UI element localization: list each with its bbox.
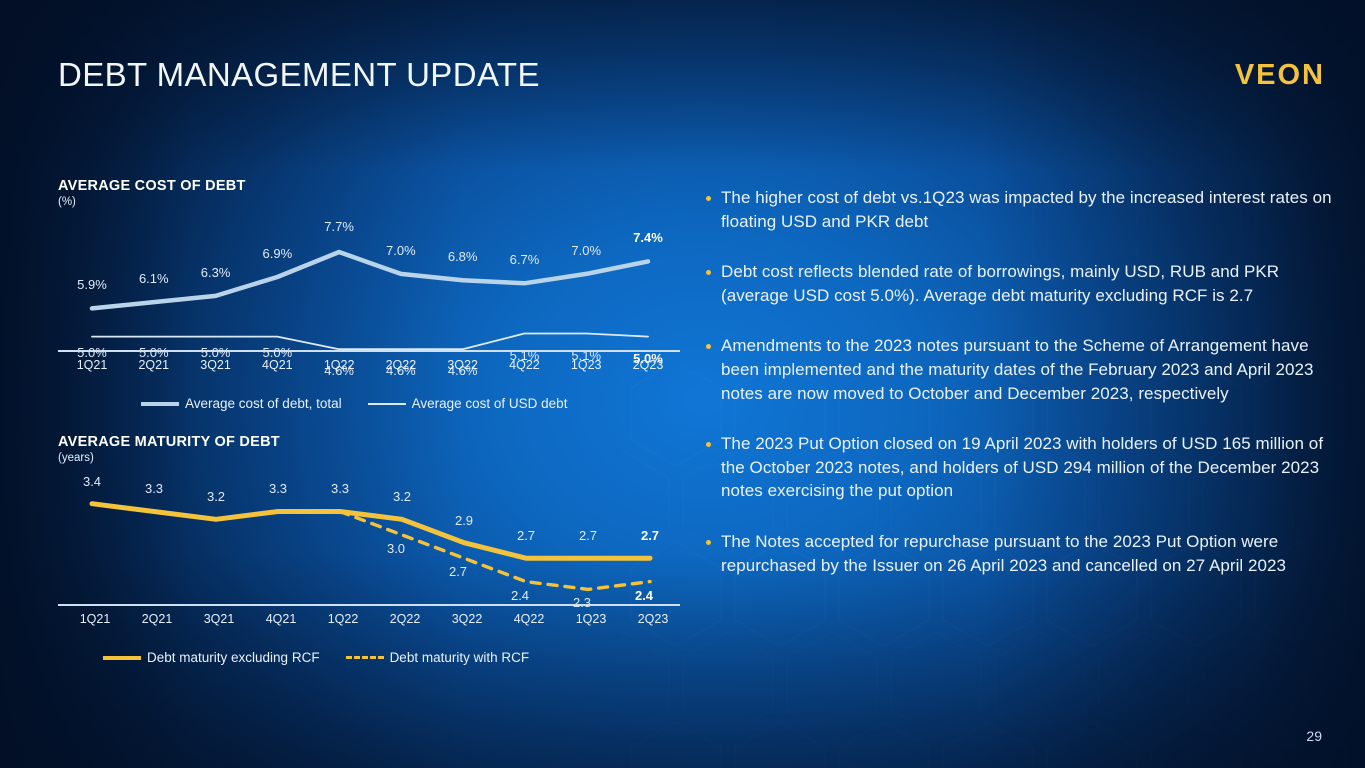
chart1-legend-item-1[interactable]: Average cost of USD debt [368,396,568,411]
data-label: 5.9% [77,277,107,292]
chart1-x-axis-labels: 1Q212Q213Q214Q211Q222Q223Q224Q221Q232Q23 [58,358,683,378]
x-axis-label: 2Q22 [390,612,421,626]
chart2-legend: Debt maturity excluding RCF Debt maturit… [103,650,529,665]
series-line [92,334,648,350]
chart1-plot-area: 5.9%6.1%6.3%6.9%7.7%7.0%6.8%6.7%7.0%7.4%… [58,218,683,378]
x-axis-label: 3Q22 [452,612,483,626]
data-label: 6.8% [448,249,478,264]
data-label: 2.7 [517,528,535,543]
chart2-legend-label-0: Debt maturity excluding RCF [147,650,320,665]
list-item: Debt cost reflects blended rate of borro… [706,260,1336,307]
data-label: 3.3 [269,481,287,496]
x-axis-label: 1Q22 [324,358,355,372]
chart1-legend-item-0[interactable]: Average cost of debt, total [141,396,342,411]
x-axis-label: 4Q22 [514,612,545,626]
chart2-axis-line [58,604,680,606]
commentary-bullet-list: The higher cost of debt vs.1Q23 was impa… [706,186,1336,604]
dashed-line-swatch-icon [346,656,384,659]
x-axis-label: 4Q22 [509,358,540,372]
x-axis-label: 2Q21 [142,612,173,626]
data-label: 3.0 [387,541,405,556]
data-label: 2.7 [449,564,467,579]
x-axis-label: 2Q23 [638,612,669,626]
data-label: 3.4 [83,474,101,489]
chart1-legend: Average cost of debt, total Average cost… [141,396,567,411]
bullet-dot-icon [706,344,711,349]
chart2-title: AVERAGE MATURITY OF DEBT [58,434,683,450]
data-label: 6.9% [263,246,293,261]
chart2-legend-label-1: Debt maturity with RCF [390,650,530,665]
series-line [92,252,648,308]
data-label: 3.2 [207,489,225,504]
x-axis-label: 1Q23 [576,612,607,626]
data-label: 7.4% [633,230,663,245]
x-axis-label: 2Q22 [386,358,417,372]
x-axis-label: 2Q23 [633,358,664,372]
data-label: 2.7 [579,528,597,543]
x-axis-label: 1Q23 [571,358,602,372]
data-label: 2.4 [511,588,529,603]
data-label: 3.2 [393,489,411,504]
list-item: The Notes accepted for repurchase pursua… [706,530,1336,577]
chart-average-maturity-of-debt: AVERAGE MATURITY OF DEBT (years) 3.43.33… [58,434,683,627]
chart1-legend-label-0: Average cost of debt, total [185,396,342,411]
bullet-text: The Notes accepted for repurchase pursua… [721,530,1336,577]
chart1-axis-line [58,350,680,352]
line-swatch-icon [141,402,179,406]
bullet-dot-icon [706,270,711,275]
x-axis-label: 4Q21 [262,358,293,372]
bullet-text: Debt cost reflects blended rate of borro… [721,260,1336,307]
bullet-text: Amendments to the 2023 notes pursuant to… [721,334,1336,405]
series-line [92,504,650,559]
data-label: 6.7% [510,252,540,267]
bullet-text: The 2023 Put Option closed on 19 April 2… [721,432,1336,503]
bullet-dot-icon [706,540,711,545]
bullet-dot-icon [706,196,711,201]
data-label: 6.3% [201,265,231,280]
line-swatch-icon [368,403,406,405]
x-axis-label: 2Q21 [138,358,169,372]
x-axis-label: 3Q22 [447,358,478,372]
bullet-text: The higher cost of debt vs.1Q23 was impa… [721,186,1336,233]
x-axis-label: 4Q21 [266,612,297,626]
line-swatch-icon [103,656,141,660]
chart-average-cost-of-debt: AVERAGE COST OF DEBT (%) 5.9%6.1%6.3%6.9… [58,178,683,378]
chart2-x-axis-labels: 1Q212Q213Q214Q211Q222Q223Q224Q221Q232Q23 [58,612,683,632]
list-item: The higher cost of debt vs.1Q23 was impa… [706,186,1336,233]
x-axis-label: 1Q22 [328,612,359,626]
chart1-title: AVERAGE COST OF DEBT [58,178,683,194]
chart1-legend-label-1: Average cost of USD debt [412,396,568,411]
x-axis-label: 3Q21 [204,612,235,626]
chart2-legend-item-0[interactable]: Debt maturity excluding RCF [103,650,320,665]
chart2-legend-item-1[interactable]: Debt maturity with RCF [346,650,530,665]
list-item: The 2023 Put Option closed on 19 April 2… [706,432,1336,503]
data-label: 2.7 [641,528,659,543]
chart2-unit-label: (years) [58,452,683,464]
data-label: 3.3 [145,481,163,496]
page-number: 29 [1306,728,1322,744]
data-label: 2.4 [635,588,653,603]
chart1-unit-label: (%) [58,196,683,208]
x-axis-label: 1Q21 [80,612,111,626]
veon-logo: VEON [1235,59,1325,92]
data-label: 7.0% [386,243,416,258]
data-label: 6.1% [139,271,169,286]
bullet-dot-icon [706,442,711,447]
x-axis-label: 1Q21 [77,358,108,372]
data-label: 2.9 [455,513,473,528]
data-label: 7.0% [571,243,601,258]
page-title: DEBT MANAGEMENT UPDATE [58,56,540,94]
x-axis-label: 3Q21 [200,358,231,372]
data-label: 7.7% [324,219,354,234]
data-label: 3.3 [331,481,349,496]
list-item: Amendments to the 2023 notes pursuant to… [706,334,1336,405]
data-label: 2.3 [573,595,591,610]
